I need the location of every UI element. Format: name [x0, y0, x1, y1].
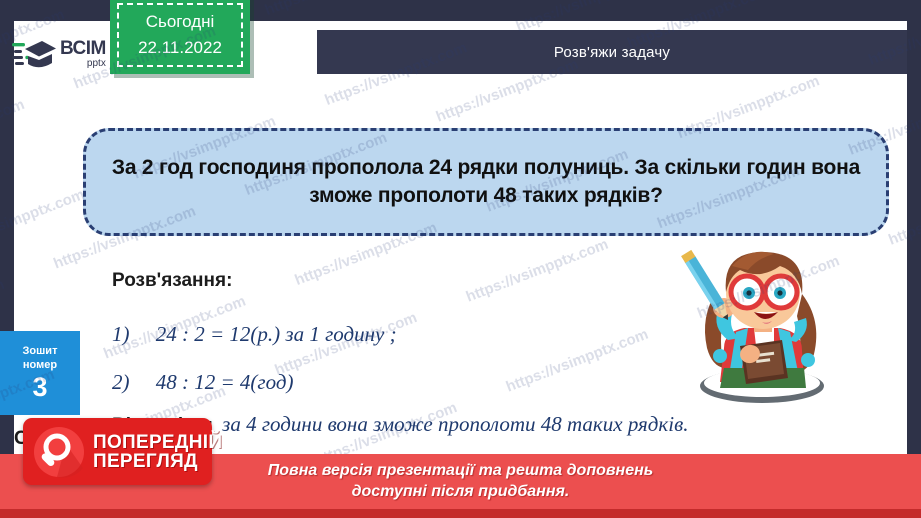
header-bar: Розв'яжи задачу [317, 30, 907, 74]
purchase-notice-line1: Повна версія презентації та решта доповн… [268, 461, 654, 482]
solution-label: Розв'язання: [112, 270, 232, 292]
notebook-badge-number: 3 [32, 374, 47, 401]
date-badge: Сьогодні 22.11.2022 [110, 0, 250, 74]
preview-badge-line1: ПОПЕРЕДНІЙ [93, 433, 222, 452]
answer-text: за 4 години вона зможе прополоти 48 таки… [222, 412, 688, 437]
task-text: За 2 год господиня прополола 24 рядки по… [108, 154, 864, 209]
slide-root: ВСІМ pptx Розв'яжи задачу Сьогодні 22.11… [0, 0, 921, 518]
girl-with-pencil-and-book-illustration [662, 236, 852, 406]
graduation-cap-icon [12, 35, 56, 73]
preview-badge: ПОПЕРЕДНІЙ ПЕРЕГЛЯД [23, 418, 212, 485]
notebook-badge-line1: Зошит [23, 345, 58, 359]
brand-logo: ВСІМ pptx [12, 30, 112, 78]
solution-step-1: 1) 24 : 2 = 12(р.) за 1 годину ; [112, 322, 397, 347]
magnifier-icon [33, 426, 85, 478]
notebook-badge-line2: номер [23, 359, 57, 373]
solution-step-2: 2) 48 : 12 = 4(год) [112, 370, 293, 395]
logo-title: ВСІМ [60, 39, 106, 58]
bottom-strip [0, 509, 921, 518]
purchase-notice-line2: доступні після придбання. [352, 482, 570, 503]
logo-text: ВСІМ pptx [60, 39, 106, 69]
page-title: Розв'яжи задачу [554, 44, 670, 61]
task-box: За 2 год господиня прополола 24 рядки по… [83, 128, 889, 236]
date-badge-value: 22.11.2022 [138, 38, 222, 58]
preview-badge-text: ПОПЕРЕДНІЙ ПЕРЕГЛЯД [93, 433, 222, 471]
preview-badge-line2: ПЕРЕГЛЯД [93, 452, 222, 471]
notebook-number-badge: Зошит номер 3 [0, 331, 80, 415]
date-badge-label: Сьогодні [146, 12, 215, 32]
logo-subtitle: pptx [87, 59, 106, 69]
